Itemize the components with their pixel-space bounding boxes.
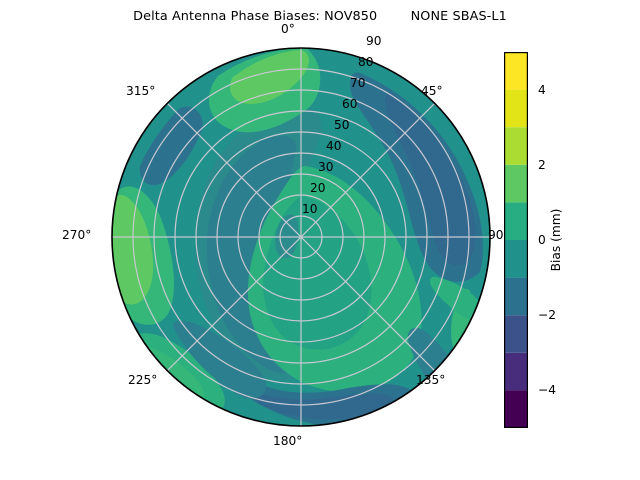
radial-tick-80: 80	[358, 55, 374, 69]
radial-tick-50: 50	[334, 118, 350, 132]
radial-tick-70: 70	[350, 76, 366, 90]
colorbar-tick-zero: 0	[538, 233, 546, 247]
radial-tick-60: 60	[342, 97, 358, 111]
colorbar-bands	[504, 52, 528, 428]
radial-tick-40: 40	[326, 139, 342, 153]
radial-tick-20: 20	[310, 181, 326, 195]
angular-tick-135: 135°	[416, 373, 445, 387]
radial-tick-90: 90	[366, 34, 382, 48]
angular-tick-270: 270°	[62, 228, 91, 242]
angular-tick-0: 0°	[281, 22, 295, 36]
angular-tick-180: 180°	[273, 434, 302, 448]
colorbar-axis-label: Bias (mm)	[549, 209, 563, 272]
angular-tick-90: 90	[488, 228, 504, 242]
angular-tick-225: 225°	[128, 373, 157, 387]
page-title: Delta Antenna Phase Biases: NOV850 NONE …	[0, 9, 640, 24]
colorbar: −4 −2 0 2 4	[504, 52, 528, 428]
colorbar-tick-2: 2	[538, 158, 546, 172]
polar-contour-plot	[110, 46, 492, 428]
angular-gridlines	[112, 48, 490, 426]
angular-tick-45: 45°	[421, 84, 443, 98]
radial-tick-30: 30	[318, 160, 334, 174]
polar-axes: 0° 45° 90 135° 180° 225° 270° 315° 10 20…	[110, 46, 492, 428]
colorbar-tick-4: 4	[538, 83, 546, 97]
colorbar-tick-minus4: −4	[538, 383, 556, 397]
figure-canvas: Delta Antenna Phase Biases: NOV850 NONE …	[0, 0, 640, 480]
radial-tick-10: 10	[302, 202, 318, 216]
colorbar-gradient	[504, 52, 528, 428]
angular-tick-315: 315°	[126, 84, 155, 98]
colorbar-tick-minus2: −2	[538, 308, 556, 322]
